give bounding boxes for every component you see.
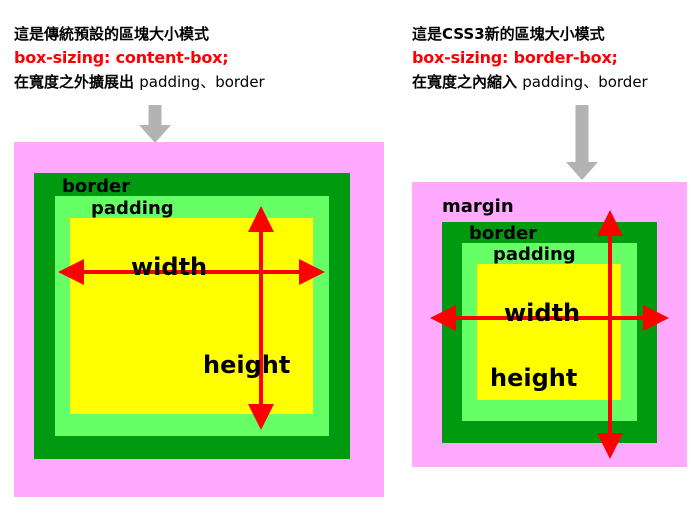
arrow-head (566, 162, 598, 180)
caption-line-3-light: padding、border (522, 73, 647, 91)
caption-line-1: 這是CSS3新的區塊大小模式 (412, 22, 648, 46)
content-box-caption: 這是傳統預設的區塊大小模式 box-sizing: content-box; 在… (14, 22, 265, 94)
caption-line-3-light: padding、border (139, 73, 264, 91)
border-box-diagram: margin border padding width height (412, 182, 687, 467)
arrow-shaft (576, 105, 589, 164)
caption-line-1: 這是傳統預設的區塊大小模式 (14, 22, 265, 46)
height-arrow-head-down (248, 404, 274, 430)
width-arrow-head-right (299, 259, 325, 285)
arrow-shaft (149, 105, 162, 127)
arrow-down-icon (139, 105, 171, 143)
padding-label: padding (493, 246, 576, 264)
width-arrow-head-right (643, 305, 669, 331)
width-arrow-head-left (430, 305, 456, 331)
height-label: height (490, 364, 577, 392)
arrow-down-icon (566, 105, 598, 180)
caption-code-line: box-sizing: content-box; (14, 46, 265, 70)
width-arrow-head-left (58, 259, 84, 285)
border-box-caption: 這是CSS3新的區塊大小模式 box-sizing: border-box; 在… (412, 22, 648, 94)
height-arrow-shaft (259, 218, 263, 414)
border-label: border (62, 178, 130, 196)
caption-line-3: 在寬度之外擴展出 padding、border (14, 70, 265, 94)
arrow-head (139, 125, 171, 143)
padding-label: padding (91, 200, 174, 218)
content-box-diagram: margin border padding width height (14, 142, 384, 497)
caption-line-3: 在寬度之內縮入 padding、border (412, 70, 648, 94)
caption-line-3-bold: 在寬度之外擴展出 (14, 73, 134, 91)
margin-label: margin (442, 198, 514, 216)
height-arrow-head-up (597, 210, 623, 236)
width-label: width (504, 299, 580, 327)
height-arrow-head-down (597, 433, 623, 459)
width-label: width (131, 253, 207, 281)
caption-line-3-bold: 在寬度之內縮入 (412, 73, 517, 91)
content-layer (70, 218, 313, 414)
height-arrow-shaft (608, 222, 612, 443)
caption-code-line: box-sizing: border-box; (412, 46, 648, 70)
border-label: border (469, 225, 537, 243)
height-label: height (203, 351, 290, 379)
height-arrow-head-up (248, 206, 274, 232)
